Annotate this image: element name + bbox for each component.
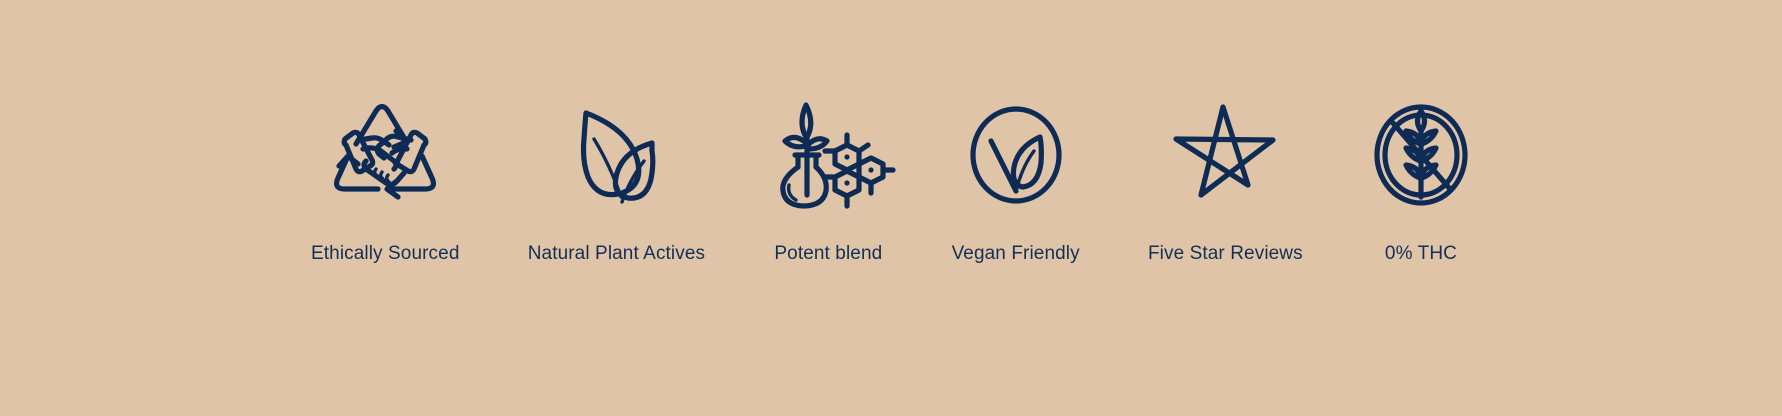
badge-vegan-friendly[interactable]: Vegan Friendly — [952, 96, 1080, 265]
handshake-recycle-icon — [326, 96, 444, 214]
badge-ethically-sourced[interactable]: Ethically Sourced — [311, 96, 460, 265]
badge-natural-plant-actives[interactable]: Natural Plant Actives — [528, 96, 705, 265]
trust-badge-strip: Ethically Sourced Natural Plant Actives — [0, 0, 1782, 416]
badge-label: Natural Plant Actives — [528, 243, 705, 265]
badge-potent-blend[interactable]: Potent blend — [773, 96, 883, 265]
no-thc-crossed-plant-icon — [1371, 96, 1471, 214]
circle-leaf-vegan-icon — [966, 96, 1066, 214]
badge-label: 0% THC — [1385, 243, 1457, 265]
two-leaves-icon — [564, 96, 668, 214]
badge-zero-thc[interactable]: 0% THC — [1371, 96, 1471, 265]
badge-label: Vegan Friendly — [952, 243, 1080, 265]
flask-plant-molecule-icon — [773, 96, 883, 214]
badge-label: Potent blend — [774, 243, 882, 265]
badge-label: Five Star Reviews — [1148, 243, 1303, 265]
badge-label: Ethically Sourced — [311, 243, 460, 265]
badge-row: Ethically Sourced Natural Plant Actives — [311, 96, 1471, 266]
star-icon — [1168, 96, 1282, 214]
badge-five-star-reviews[interactable]: Five Star Reviews — [1148, 96, 1303, 265]
